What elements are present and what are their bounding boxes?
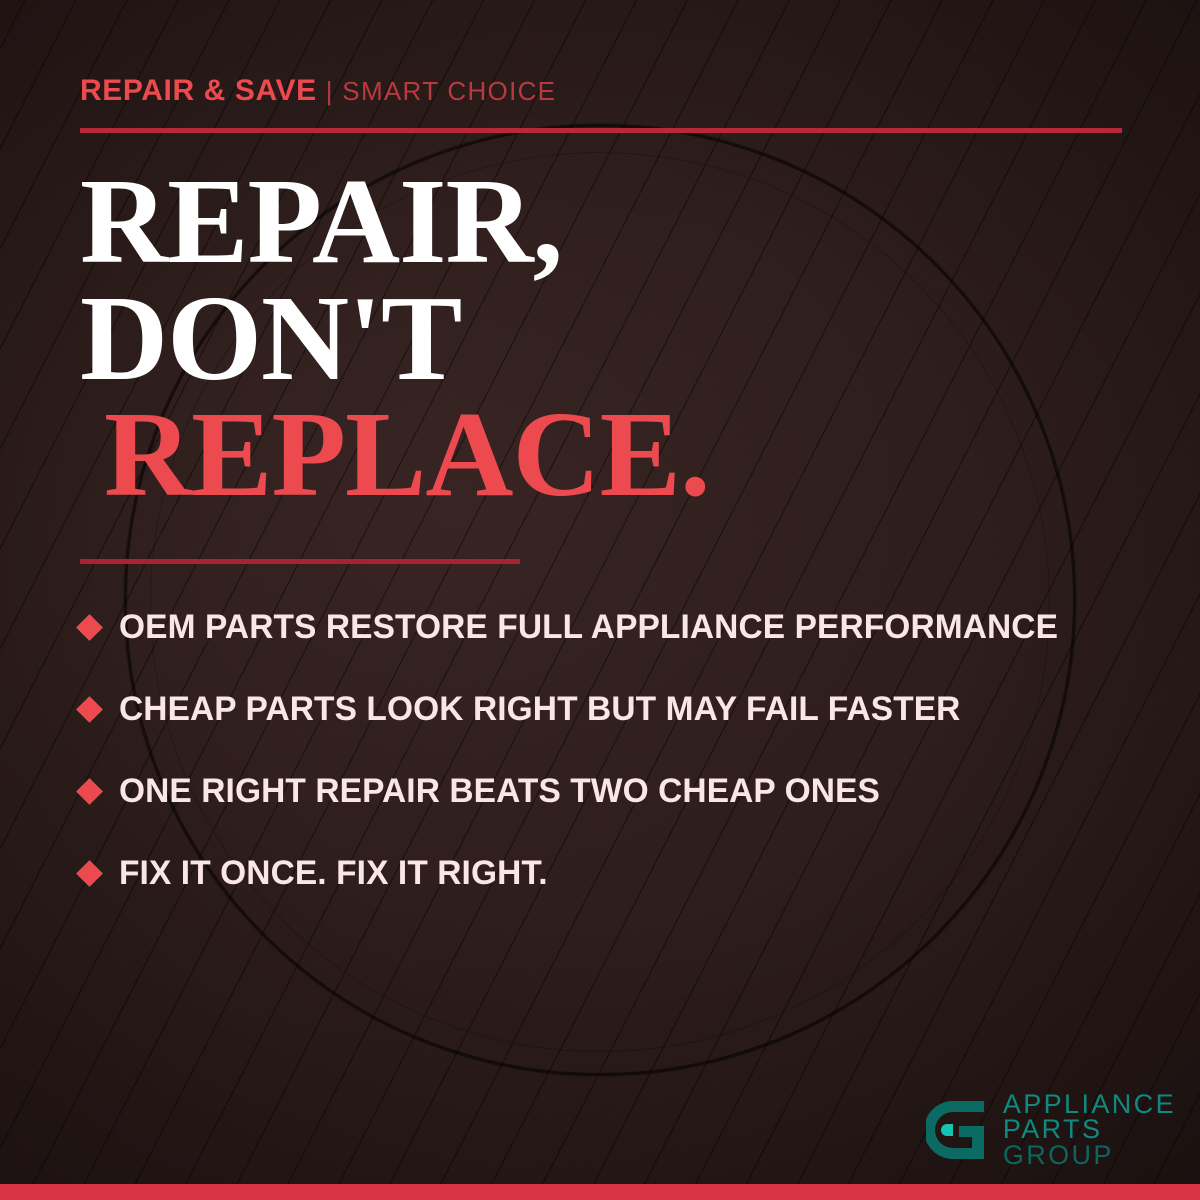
diamond-bullet-icon xyxy=(76,614,103,641)
headline-divider-rule xyxy=(80,559,520,564)
logo-line-2: PARTS xyxy=(1003,1117,1176,1142)
bottom-accent-bar xyxy=(0,1184,1200,1200)
headline-line-1: REPAIR, xyxy=(80,164,709,281)
kicker-sub-label: | SMART CHOICE xyxy=(326,76,557,107)
list-item: FIX IT ONCE. FIX IT RIGHT. xyxy=(80,832,1160,914)
list-item: CHEAP PARTS LOOK RIGHT BUT MAY FAIL FAST… xyxy=(80,668,1160,750)
g-monogram-icon xyxy=(926,1095,988,1165)
kicker-eyebrow: REPAIR & SAVE | SMART CHOICE xyxy=(80,74,556,108)
page-title: REPAIR, DON'T REPLACE. xyxy=(80,164,709,514)
headline-line-2: DON'T xyxy=(80,281,709,398)
headline-line-3: REPLACE. xyxy=(80,397,709,514)
logo-line-3: GROUP xyxy=(1003,1143,1176,1168)
list-item-label: ONE RIGHT REPAIR BEATS TWO CHEAP ONES xyxy=(119,772,880,811)
poster-canvas: REPAIR & SAVE | SMART CHOICE REPAIR, DON… xyxy=(0,0,1200,1200)
list-item-label: OEM PARTS RESTORE FULL APPLIANCE PERFORM… xyxy=(119,608,1058,647)
list-item: OEM PARTS RESTORE FULL APPLIANCE PERFORM… xyxy=(80,586,1160,668)
brand-logo: APPLIANCE PARTS GROUP xyxy=(926,1092,1176,1168)
diamond-bullet-icon xyxy=(76,696,103,723)
list-item: ONE RIGHT REPAIR BEATS TWO CHEAP ONES xyxy=(80,750,1160,832)
diamond-bullet-icon xyxy=(76,860,103,887)
diamond-bullet-icon xyxy=(76,778,103,805)
kicker-main-label: REPAIR & SAVE xyxy=(80,74,317,108)
list-item-label: CHEAP PARTS LOOK RIGHT BUT MAY FAIL FAST… xyxy=(119,690,960,729)
list-item-label: FIX IT ONCE. FIX IT RIGHT. xyxy=(119,854,548,893)
benefits-list: OEM PARTS RESTORE FULL APPLIANCE PERFORM… xyxy=(80,586,1160,914)
header-divider-rule xyxy=(80,128,1122,133)
